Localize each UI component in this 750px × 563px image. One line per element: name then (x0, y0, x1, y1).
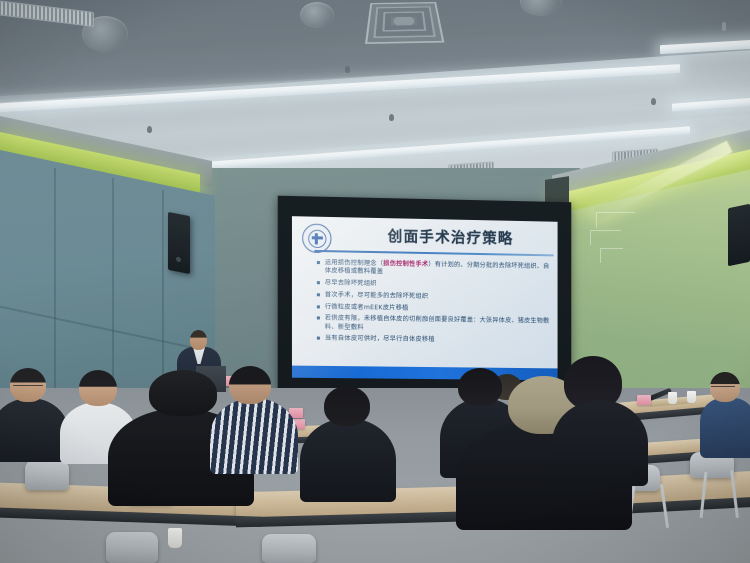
slide-bullet-item: ▪ 若供皮有限，未移植自体皮的切削痂创面要良好覆盖：大张异体皮、猪皮生物敷料、新… (316, 315, 553, 335)
wall-decoration-line (600, 248, 623, 263)
slide-bullet-item: ▪ 尽早去除坏死组织 (316, 279, 553, 291)
ceiling-fixture-dot (345, 66, 350, 73)
bullet-text: 首次手术，尽可能多的去除坏死组织 (325, 291, 554, 303)
wall-mounted-speaker (728, 204, 750, 267)
slide-title: 创面手术治疗策略 (351, 224, 550, 249)
chair[interactable] (106, 532, 158, 563)
bullet-marker: ▪ (316, 303, 320, 311)
paper-cup (668, 392, 677, 404)
lecture-room-photo: 创面手术治疗策略 ▪ 运用损伤控制理念（损伤控制性手术）有计划的、分期分批的去除… (0, 0, 750, 563)
slide-bullet-list: ▪ 运用损伤控制理念（损伤控制性手术）有计划的、分期分批的去除坏死组织、自体皮移… (316, 259, 553, 350)
round-ceiling-speaker-icon (300, 2, 334, 28)
ceiling-fixture-dot (147, 126, 152, 133)
bullet-text: 若供皮有限，未移植自体皮的切削痂创面要良好覆盖：大张异体皮、猪皮生物敷料、新型敷… (325, 315, 554, 335)
bullet-text: 行微粒皮或者mEEK皮片移植 (325, 303, 554, 315)
wall-mounted-speaker (168, 212, 190, 274)
chair[interactable] (262, 534, 316, 563)
bullet-marker: ▪ (316, 335, 320, 343)
slide-bullet-item: ▪ 运用损伤控制理念（损伤控制性手术）有计划的、分期分批的去除坏死组织、自体皮移… (316, 259, 553, 280)
hospital-emblem-icon (302, 223, 331, 253)
paper-cup (687, 391, 696, 403)
bullet-marker: ▪ (316, 259, 320, 276)
slide-bullet-item: ▪ 行微粒皮或者mEEK皮片移植 (316, 303, 553, 315)
chair[interactable] (25, 460, 69, 490)
fire-sprinkler-head-icon (722, 22, 726, 31)
slide-bullet-item: ▪ 当有自体皮可供时，尽早行自体皮移植 (316, 335, 553, 346)
pink-name-card (637, 395, 651, 405)
projection-screen: 创面手术治疗策略 ▪ 运用损伤控制理念（损伤控制性手术）有计划的、分期分批的去除… (292, 216, 558, 380)
slide-bullet-item: ▪ 首次手术，尽可能多的去除坏死组织 (316, 291, 553, 303)
bullet-marker: ▪ (316, 315, 320, 332)
wall-decoration-line (590, 230, 621, 245)
presenter-head (190, 330, 207, 350)
paper-cup (168, 528, 182, 548)
wall-panel-seam (54, 168, 56, 418)
wall-decoration-line (596, 212, 635, 228)
bullet-text: 尽早去除坏死组织 (325, 279, 554, 291)
ceiling-fixture-dot (389, 114, 394, 121)
bullet-text: 运用损伤控制理念（损伤控制性手术）有计划的、分期分批的去除坏死组织、自体皮移植或… (325, 259, 554, 279)
bullet-text: 当有自体皮可供时，尽早行自体皮移植 (325, 335, 554, 346)
projection-screen-frame: 创面手术治疗策略 ▪ 运用损伤控制理念（损伤控制性手术）有计划的、分期分批的去除… (278, 196, 572, 394)
bullet-marker: ▪ (316, 291, 320, 299)
square-air-diffuser-icon (365, 2, 445, 44)
ceiling-fixture-dot (651, 98, 656, 105)
slide-title-divider (314, 250, 553, 256)
bullet-marker: ▪ (316, 279, 320, 287)
